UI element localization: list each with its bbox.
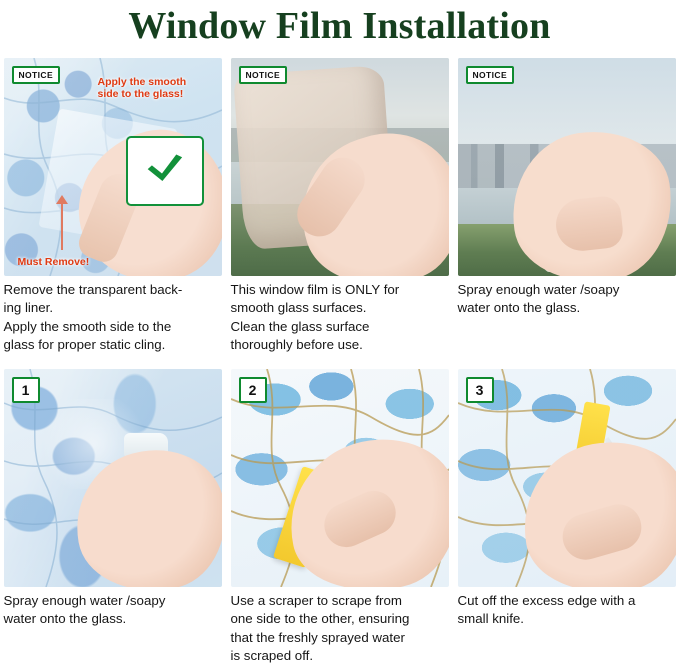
notice-badge: NOTICE — [466, 66, 515, 84]
step-card-4: 1 Spray enough water /soapy water onto t… — [4, 369, 222, 666]
checkmark-icon — [144, 154, 186, 188]
arrow-shaft-icon — [61, 198, 63, 250]
page-title: Window Film Installation — [8, 6, 671, 48]
liner-callout-box — [126, 136, 204, 206]
step-number-badge: 1 — [12, 377, 40, 403]
notice-badge: NOTICE — [239, 66, 288, 84]
step-5-photo: 2 — [231, 369, 449, 587]
step-6-photo: 3 — [458, 369, 676, 587]
overlay-label-apply: Apply the smooth side to the glass! — [98, 76, 214, 100]
step-3-caption: Spray enough water /soapy water onto the… — [458, 281, 676, 318]
step-2-photo: NOTICE — [231, 58, 449, 276]
steps-row-2: 1 Spray enough water /soapy water onto t… — [8, 369, 671, 666]
instruction-sheet: Window Film Installation — [0, 6, 679, 669]
step-3-photo: NOTICE — [458, 58, 676, 276]
arrow-head-icon — [56, 195, 68, 204]
step-4-caption: Spray enough water /soapy water onto the… — [4, 592, 222, 629]
step-card-1: Apply the smooth side to the glass! Must… — [4, 58, 222, 355]
step-1-caption: Remove the transparent back- ing liner. … — [4, 281, 222, 355]
step-2-caption: This window film is ONLY for smooth glas… — [231, 281, 449, 355]
overlay-label-must-remove: Must Remove! — [18, 256, 90, 268]
step-card-2: NOTICE This window film is ONLY for smoo… — [231, 58, 449, 355]
step-4-photo: 1 — [4, 369, 222, 587]
step-number-badge: 3 — [466, 377, 494, 403]
step-6-caption: Cut off the excess edge with a small kni… — [458, 592, 676, 629]
step-number-badge: 2 — [239, 377, 267, 403]
step-5-caption: Use a scraper to scrape from one side to… — [231, 592, 449, 666]
step-card-5: 2 Use a scraper to scrape from one side … — [231, 369, 449, 666]
step-card-6: 3 Cut off the excess edge with a small k… — [458, 369, 676, 666]
step-1-photo: Apply the smooth side to the glass! Must… — [4, 58, 222, 276]
steps-row-1: Apply the smooth side to the glass! Must… — [8, 58, 671, 355]
step-card-3: NOTICE Spray enough water /soapy water o… — [458, 58, 676, 355]
notice-badge: NOTICE — [12, 66, 61, 84]
